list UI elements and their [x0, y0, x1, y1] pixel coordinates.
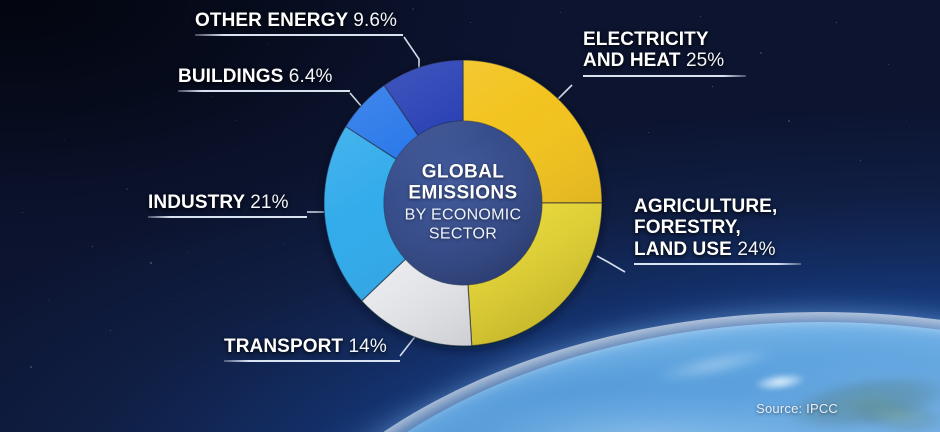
donut-svg: [324, 60, 602, 346]
source-credit: Source: IPCC: [756, 401, 838, 416]
callout-electricity-line1: ELECTRICITY: [583, 29, 746, 50]
callout-transport-pct: 14%: [349, 336, 387, 357]
callout-electricity-pct: 25%: [686, 50, 724, 71]
callout-agriculture-text: LAND USE 24%: [634, 239, 801, 260]
callout-transport[interactable]: TRANSPORT 14%: [224, 336, 400, 362]
callout-other-energy-pct: 9.6%: [353, 10, 397, 31]
callout-other-energy[interactable]: OTHER ENERGY 9.6%: [195, 10, 403, 36]
callout-electricity-rule: [583, 75, 746, 77]
callout-buildings-rule: [178, 90, 350, 92]
callout-buildings-name: BUILDINGS: [178, 66, 283, 87]
callout-electricity-line2: AND HEAT: [583, 50, 681, 71]
callout-industry[interactable]: INDUSTRY 21%: [148, 192, 307, 218]
callout-industry-rule: [148, 216, 307, 218]
callout-electricity-text: AND HEAT 25%: [583, 50, 746, 71]
callout-agriculture-rule: [634, 263, 801, 265]
callout-transport-text: TRANSPORT 14%: [224, 336, 400, 357]
callout-other-energy-text: OTHER ENERGY 9.6%: [195, 10, 403, 31]
callout-agriculture-line3: LAND USE: [634, 239, 732, 260]
callout-buildings-text: BUILDINGS 6.4%: [178, 66, 350, 87]
callout-electricity[interactable]: ELECTRICITY AND HEAT 25%: [583, 29, 746, 77]
callout-agriculture-line2: FORESTRY,: [634, 217, 801, 238]
callout-agriculture-pct: 24%: [737, 239, 775, 260]
callout-agriculture[interactable]: AGRICULTURE, FORESTRY, LAND USE 24%: [634, 196, 801, 265]
callout-other-energy-rule: [195, 34, 403, 36]
callout-industry-name: INDUSTRY: [148, 192, 245, 213]
callout-industry-text: INDUSTRY 21%: [148, 192, 307, 213]
donut-hole: [384, 121, 542, 285]
callout-buildings[interactable]: BUILDINGS 6.4%: [178, 66, 350, 92]
donut-chart: GLOBAL EMISSIONS BY ECONOMIC SECTOR: [324, 60, 602, 346]
callout-buildings-pct: 6.4%: [289, 66, 333, 87]
callout-industry-pct: 21%: [250, 192, 288, 213]
callout-agriculture-line1: AGRICULTURE,: [634, 196, 801, 217]
infographic-canvas: GLOBAL EMISSIONS BY ECONOMIC SECTOR OTHE…: [0, 0, 940, 432]
callout-other-energy-name: OTHER ENERGY: [195, 10, 348, 31]
callout-transport-rule: [224, 360, 400, 362]
callout-transport-name: TRANSPORT: [224, 336, 343, 357]
